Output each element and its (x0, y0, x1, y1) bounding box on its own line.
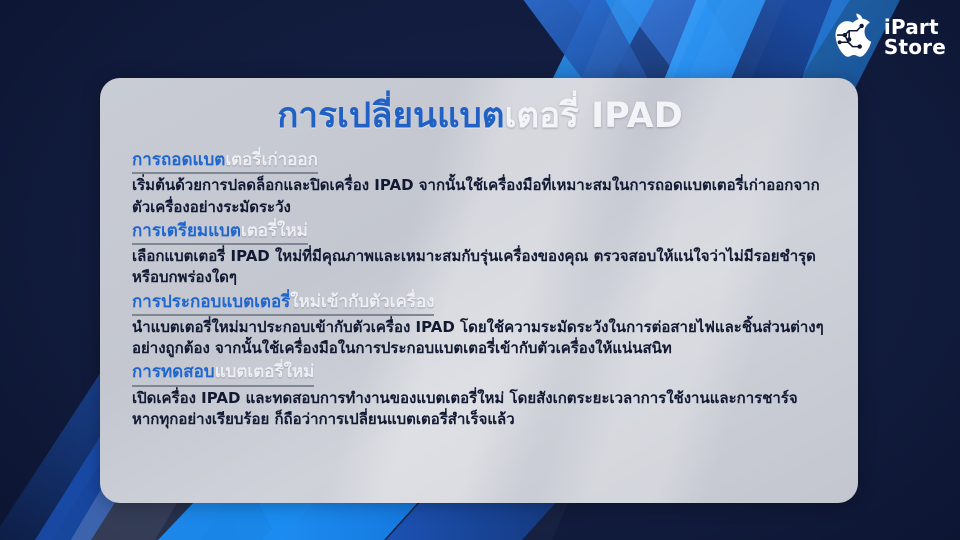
page-title: การเปลี่ยนแบตเตอรี่ IPAD (132, 96, 828, 136)
section-body: นำแบตเตอรี่ใหม่มาประกอบเข้ากับตัวเครื่อง… (132, 317, 828, 360)
slide-canvas: iPart Store การเปลี่ยนแบตเตอรี่ IPAD การ… (0, 0, 960, 540)
section-heading-blue: การเตรียมแบต (132, 221, 241, 241)
section-heading: การเตรียมแบตเตอรี่ใหม่ (132, 219, 308, 245)
brand-name-line2: Store (884, 37, 946, 57)
section: การประกอบแบตเตอรี่ใหม่เข้ากับตัวเครื่องน… (132, 290, 828, 360)
brand-wordmark: iPart Store (884, 17, 946, 57)
brand-logo: iPart Store (829, 12, 946, 62)
section: การทดสอบแบตเตอรี่ใหม่เปิดเครื่อง IPAD แล… (132, 360, 828, 430)
section-body: เริ่มต้นด้วยการปลดล็อกและปิดเครื่อง IPAD… (132, 175, 828, 218)
section-heading-blue: การทดสอบ (132, 362, 215, 382)
content-card: การเปลี่ยนแบตเตอรี่ IPAD การถอดแบตเตอรี่… (100, 78, 858, 503)
section-body: เลือกแบตเตอรี่ IPAD ใหม่ที่มีคุณภาพและเห… (132, 246, 828, 289)
section-heading-light: เตอรี่เก่าออก (225, 150, 318, 170)
section-heading-blue: การถอดแบต (132, 150, 225, 170)
brand-name-line1: iPart (884, 17, 946, 37)
section-heading-light: ใหม่เข้ากับตัวเครื่อง (290, 292, 434, 312)
page-title-blue: การเปลี่ยนแบต (277, 96, 504, 136)
section-heading-blue: การประกอบแบตเตอรี่ (132, 292, 290, 312)
apple-circuit-icon (829, 12, 877, 62)
section-heading: การประกอบแบตเตอรี่ใหม่เข้ากับตัวเครื่อง (132, 290, 434, 316)
section: การเตรียมแบตเตอรี่ใหม่เลือกแบตเตอรี่ IPA… (132, 219, 828, 289)
section-heading: การถอดแบตเตอรี่เก่าออก (132, 148, 318, 174)
section-body: เปิดเครื่อง IPAD และทดสอบการทำงานของแบตเ… (132, 388, 828, 431)
page-title-light: เตอรี่ IPAD (504, 96, 682, 136)
section-heading-light: แบตเตอรี่ใหม่ (215, 362, 315, 382)
section-list: การถอดแบตเตอรี่เก่าออกเริ่มต้นด้วยการปลด… (132, 148, 828, 430)
section-heading: การทดสอบแบตเตอรี่ใหม่ (132, 360, 314, 386)
section: การถอดแบตเตอรี่เก่าออกเริ่มต้นด้วยการปลด… (132, 148, 828, 218)
section-heading-light: เตอรี่ใหม่ (241, 221, 308, 241)
bottom-stripes (158, 498, 560, 540)
